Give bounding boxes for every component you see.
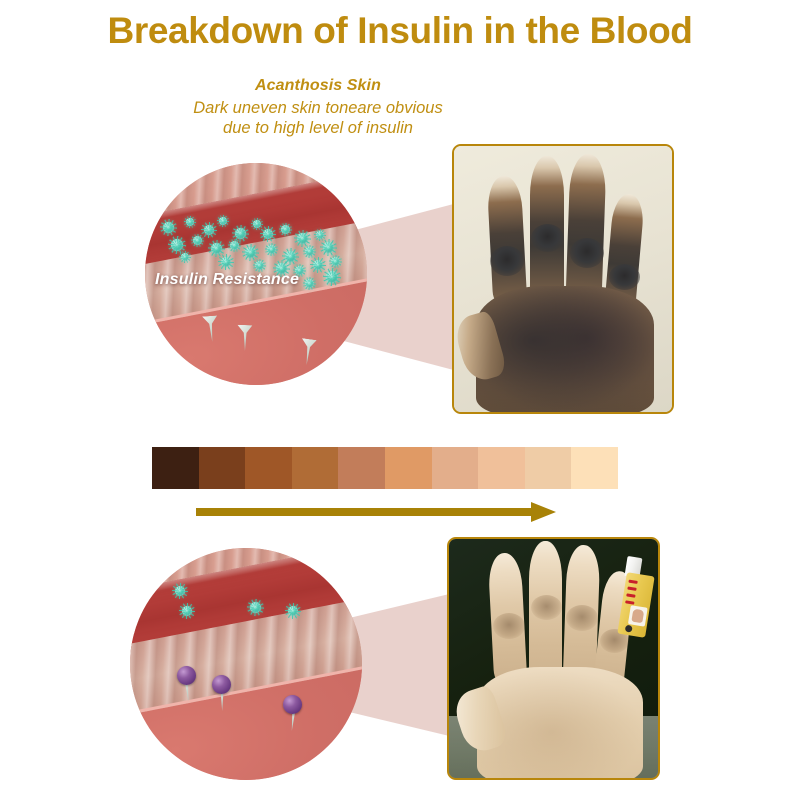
- photo-acanthosis-hand: [454, 146, 672, 412]
- tone-swatch-1: [152, 447, 199, 489]
- insulin-molecule: [316, 231, 324, 239]
- insulin-molecule: [285, 251, 296, 262]
- right-arrow-icon: [196, 502, 556, 522]
- tone-swatch-4: [292, 447, 339, 489]
- tone-swatch-8: [478, 447, 525, 489]
- insulin-molecule: [331, 257, 340, 266]
- finger-ring: [565, 153, 606, 306]
- knuckle-patch: [609, 264, 640, 290]
- caption-heading: Acanthosis Skin: [118, 76, 518, 96]
- skin-cross-section-top: Insulin Resistance: [145, 163, 367, 385]
- bound-insulin: [177, 666, 196, 685]
- tone-swatch-9: [525, 447, 572, 489]
- insulin-molecule: [193, 236, 202, 245]
- insulin-molecule: [305, 247, 314, 256]
- insulin-molecule: [211, 243, 222, 254]
- label-hand-icon: [628, 605, 648, 626]
- insulin-molecule: [255, 261, 264, 270]
- insulin-molecule: [182, 606, 192, 616]
- bound-insulin: [212, 675, 231, 694]
- photo-treated-hand: [449, 539, 658, 778]
- illustration-insulin-resistance: Insulin Resistance: [145, 163, 367, 385]
- insulin-molecule: [245, 247, 256, 258]
- tone-swatch-10: [571, 447, 618, 489]
- tone-swatch-3: [245, 447, 292, 489]
- insulin-molecule: [204, 225, 214, 235]
- insulin-molecule: [263, 229, 273, 239]
- product-bottle: [621, 557, 657, 641]
- knuckle-patch: [490, 246, 524, 276]
- insulin-molecule: [163, 222, 174, 233]
- photo-frame-before: [452, 144, 674, 414]
- insulin-molecule: [323, 242, 334, 253]
- tone-swatch-7: [432, 447, 479, 489]
- insulin-molecule: [186, 218, 194, 226]
- skin-tone-scale: [152, 447, 618, 489]
- knuckle-patch: [566, 605, 598, 631]
- insulin-resistance-label: Insulin Resistance: [155, 271, 355, 289]
- illustration-insulin-sensitive: [130, 548, 362, 780]
- photo-frame-after: [447, 537, 660, 780]
- knuckle-patch: [531, 595, 562, 620]
- caption-line-1: Dark uneven skin toneare obvious: [118, 98, 518, 118]
- insulin-molecule: [297, 233, 308, 244]
- insulin-molecule: [181, 253, 189, 261]
- insulin-molecule: [281, 225, 290, 234]
- insulin-molecule: [219, 217, 227, 225]
- bottle-label: [617, 572, 654, 638]
- knuckle-patch: [493, 613, 525, 639]
- page-title: Breakdown of Insulin in the Blood: [0, 8, 800, 54]
- label-bar: [628, 580, 637, 584]
- skin-cross-section-bottom: [130, 548, 362, 780]
- label-dot: [625, 625, 633, 633]
- insulin-molecule: [288, 606, 298, 616]
- insulin-molecule: [175, 586, 185, 596]
- caption-line-2: due to high level of insulin: [118, 118, 518, 138]
- tone-swatch-5: [338, 447, 385, 489]
- label-bar: [625, 600, 634, 604]
- insulin-molecule: [230, 241, 239, 250]
- progress-arrow: [196, 502, 556, 522]
- insulin-molecule: [221, 257, 231, 267]
- hand-dark: [454, 146, 672, 412]
- infographic-poster: Breakdown of Insulin in the Blood Acanth…: [0, 0, 800, 800]
- knuckle-patch: [531, 224, 564, 252]
- insulin-molecule: [250, 602, 261, 613]
- label-bar: [627, 586, 636, 590]
- insulin-molecule: [313, 260, 323, 270]
- bound-insulin: [283, 695, 302, 714]
- tone-swatch-6: [385, 447, 432, 489]
- caption-block: Acanthosis Skin Dark uneven skin toneare…: [118, 76, 518, 138]
- knuckle-patch: [570, 238, 604, 268]
- insulin-molecule: [171, 239, 183, 251]
- label-bar: [626, 593, 635, 597]
- tone-swatch-2: [199, 447, 246, 489]
- back-of-hand: [476, 286, 654, 414]
- insulin-molecule: [253, 220, 261, 228]
- insulin-molecule: [267, 245, 276, 254]
- insulin-molecule: [235, 228, 246, 239]
